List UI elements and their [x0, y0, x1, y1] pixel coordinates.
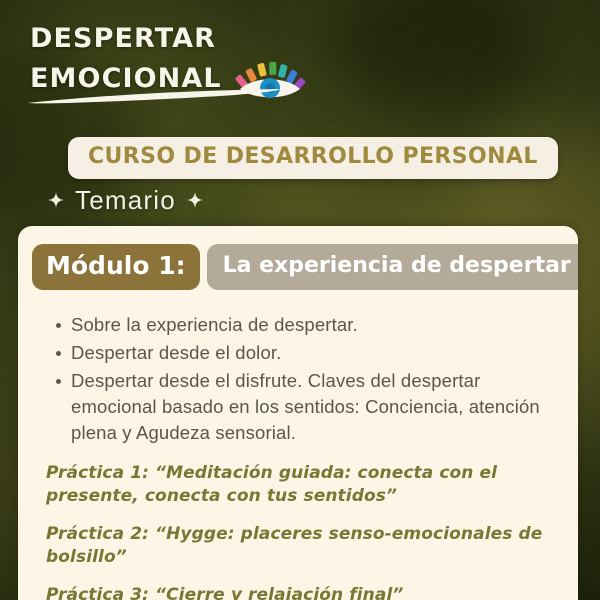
list-item: Despertar desde el disfrute. Claves del …: [56, 368, 554, 446]
temario-heading: Temario: [48, 185, 203, 215]
module-title-label: La experiencia de despertar: [223, 253, 571, 279]
temario-label: Temario: [75, 185, 176, 215]
course-banner-pill: CURSO DE DESARROLLO PERSONAL: [68, 137, 558, 179]
module-title-pill: La experiencia de despertar: [207, 244, 578, 290]
practica-list: Práctica 1: “Meditación guiada: conecta …: [18, 448, 578, 600]
module-topic-list: Sobre la experiencia de despertar. Despe…: [18, 290, 578, 446]
four-point-sparkle-icon: [48, 192, 64, 208]
list-item: Sobre la experiencia de despertar.: [56, 312, 554, 338]
practica-item: Práctica 2: “Hygge: placeres senso-emoci…: [46, 523, 556, 569]
course-banner-label: CURSO DE DESARROLLO PERSONAL: [88, 144, 538, 170]
module-header: Módulo 1: La experiencia de despertar: [18, 226, 578, 290]
four-point-sparkle-icon: [187, 192, 203, 208]
practica-item: Práctica 1: “Meditación guiada: conecta …: [46, 462, 556, 508]
module-number-label: Módulo 1:: [46, 252, 186, 280]
brush-stroke-underline-icon: [25, 88, 285, 106]
brand-line-1: DESPERTAR: [30, 22, 360, 56]
module-card: Módulo 1: La experiencia de despertar So…: [18, 226, 578, 600]
practica-item: Práctica 3: “Cierre y relajación final”: [46, 584, 556, 600]
poster-root: DESPERTAR EMOCIONAL CU: [0, 0, 600, 600]
list-item: Despertar desde el dolor.: [56, 340, 554, 366]
module-number-pill: Módulo 1:: [32, 244, 200, 290]
